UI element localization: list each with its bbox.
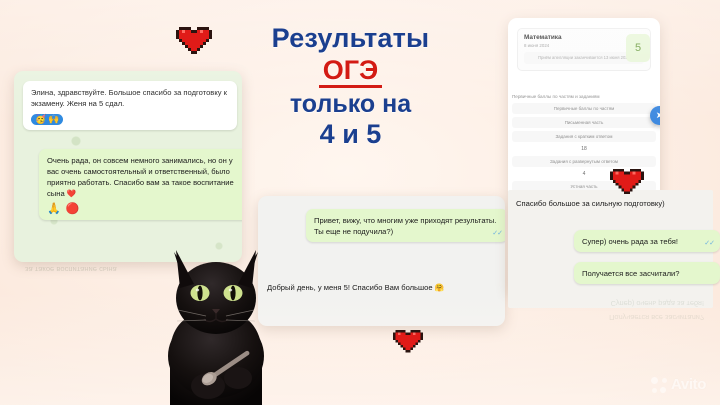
middle-chat-card: Привет, вижу, что многим уже приходят ре… — [258, 196, 505, 326]
headline-line-4: 4 и 5 — [243, 120, 458, 149]
chat-bubble-outgoing: Привет, вижу, что многим уже приходят ре… — [306, 209, 505, 242]
chat-bubble-text: Добрый день, у меня 5! Спасибо Вам больш… — [267, 282, 447, 293]
avito-wordmark: Avito — [671, 376, 706, 393]
chat-bubble-text: Спасибо большое за сильную подготовку) — [516, 198, 666, 209]
scores-subsection-label: Первичные баллы по частям — [512, 103, 656, 114]
avito-logo-icon — [651, 377, 667, 393]
pixel-heart-icon — [610, 166, 644, 197]
chat-bubble-text: Супер) очень рада за тебя! — [582, 236, 712, 247]
page-title: Результаты ОГЭ только на 4 и 5 — [243, 24, 458, 148]
left-chat-card: Элина, здравствуйте. Большое спасибо за … — [14, 71, 242, 262]
pixel-heart-icon — [176, 24, 212, 57]
reaction-emoji-party: 🥳 — [35, 115, 46, 124]
chat-bubble-incoming: Спасибо большое за сильную подготовку) — [514, 196, 668, 211]
grade-badge: 5 — [626, 34, 650, 62]
reaction-row[interactable]: 🙏 🔴 — [47, 204, 242, 215]
scores-section-label: Первичные баллы по частям и заданиям — [512, 94, 660, 99]
right-chat-strip: Спасибо большое за сильную подготовку) С… — [508, 190, 713, 308]
read-receipt-icon: ✓✓ — [492, 229, 502, 239]
chat-bubble-incoming: Добрый день, у меня 5! Спасибо Вам больш… — [265, 276, 455, 298]
chat-bubble-outgoing: Очень рада, он совсем немного занимались… — [39, 149, 242, 220]
headline-line-2: ОГЭ — [319, 56, 383, 89]
reaction-emoji-hands: 🙌 — [48, 115, 59, 124]
reaction-badge[interactable]: 🥳 🙌 — [31, 114, 63, 125]
headline-line-1: Результаты — [243, 24, 458, 53]
chat-bubble-text: Привет, вижу, что многим уже приходят ре… — [314, 215, 500, 237]
reflection-text: Получается все засчитали? — [514, 310, 704, 324]
chat-bubble-outgoing: Супер) очень рада за тебя! ✓✓ — [574, 230, 720, 252]
chat-bubble-text: Получается все засчитали? — [582, 268, 712, 279]
reaction-emoji-red: 🔴 — [66, 204, 80, 215]
headline-line-3: только на — [243, 91, 458, 118]
score-row: Письменная часть — [512, 117, 656, 128]
reaction-emoji-pray: 🙏 — [47, 204, 61, 215]
poster-canvas: Результаты ОГЭ только на 4 и 5 Элина, зд… — [0, 0, 720, 405]
avito-watermark: Avito — [651, 376, 706, 393]
chat-bubble-text: Элина, здравствуйте. Большое спасибо за … — [31, 87, 229, 109]
chat-bubble-text: Очень рада, он совсем немного занимались… — [47, 155, 242, 199]
cat-photo — [150, 236, 275, 405]
chat-bubble-outgoing: Получается все засчитали? — [574, 262, 720, 284]
score-row: Задания с кратким ответом — [512, 131, 656, 142]
read-receipt-icon: ✓✓ — [704, 239, 714, 249]
pixel-heart-icon — [393, 327, 423, 355]
chat-bubble-incoming: Элина, здравствуйте. Большое спасибо за … — [23, 81, 237, 130]
score-value: 18 — [512, 145, 656, 153]
